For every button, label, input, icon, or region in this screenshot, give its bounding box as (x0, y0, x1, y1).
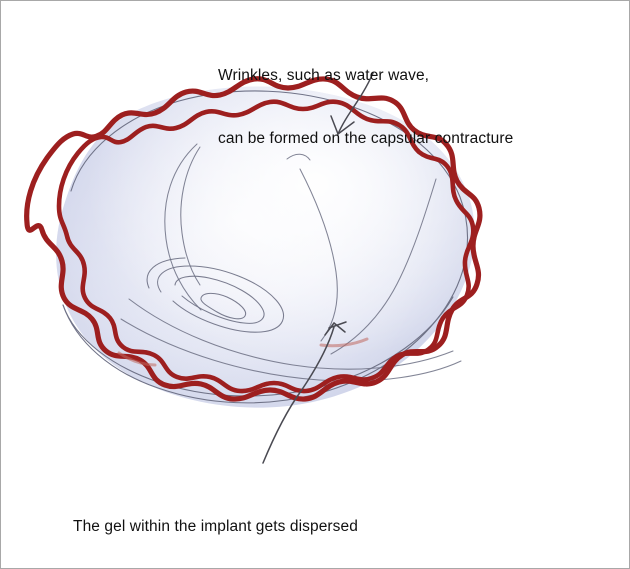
gel-dispersion-caption-line-1: The gel within the implant gets disperse… (73, 516, 358, 537)
illustration-canvas: Wrinkles, such as water wave, can be for… (0, 0, 630, 569)
gel-dispersion-caption: The gel within the implant gets disperse… (73, 474, 358, 569)
wrinkles-caption: Wrinkles, such as water wave, can be for… (218, 23, 513, 191)
wrinkles-caption-line-1: Wrinkles, such as water wave, (218, 65, 513, 86)
wrinkles-caption-line-2: can be formed on the capsular contractur… (218, 128, 513, 149)
